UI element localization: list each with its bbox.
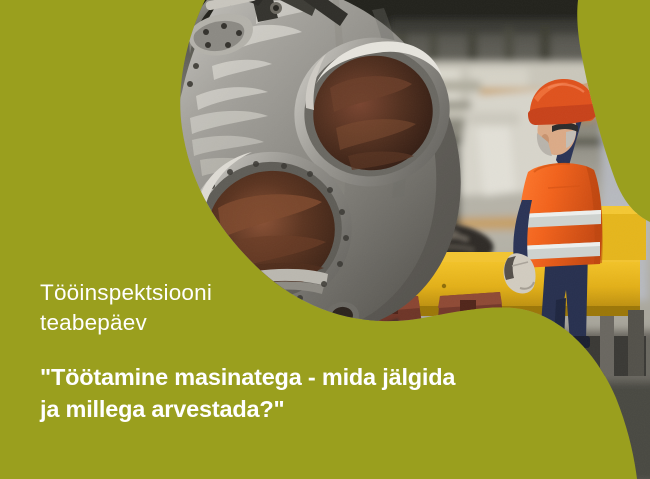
event-headline: "Töötamine masinatega - mida jälgida ja … <box>40 362 460 426</box>
event-kicker: Tööinspektsiooni teabepäev <box>40 278 470 338</box>
kicker-block: Tööinspektsiooni teabepäev <box>40 278 470 338</box>
poster-canvas: Tööinspektsiooni teabepäev "Töötamine ma… <box>0 0 650 479</box>
